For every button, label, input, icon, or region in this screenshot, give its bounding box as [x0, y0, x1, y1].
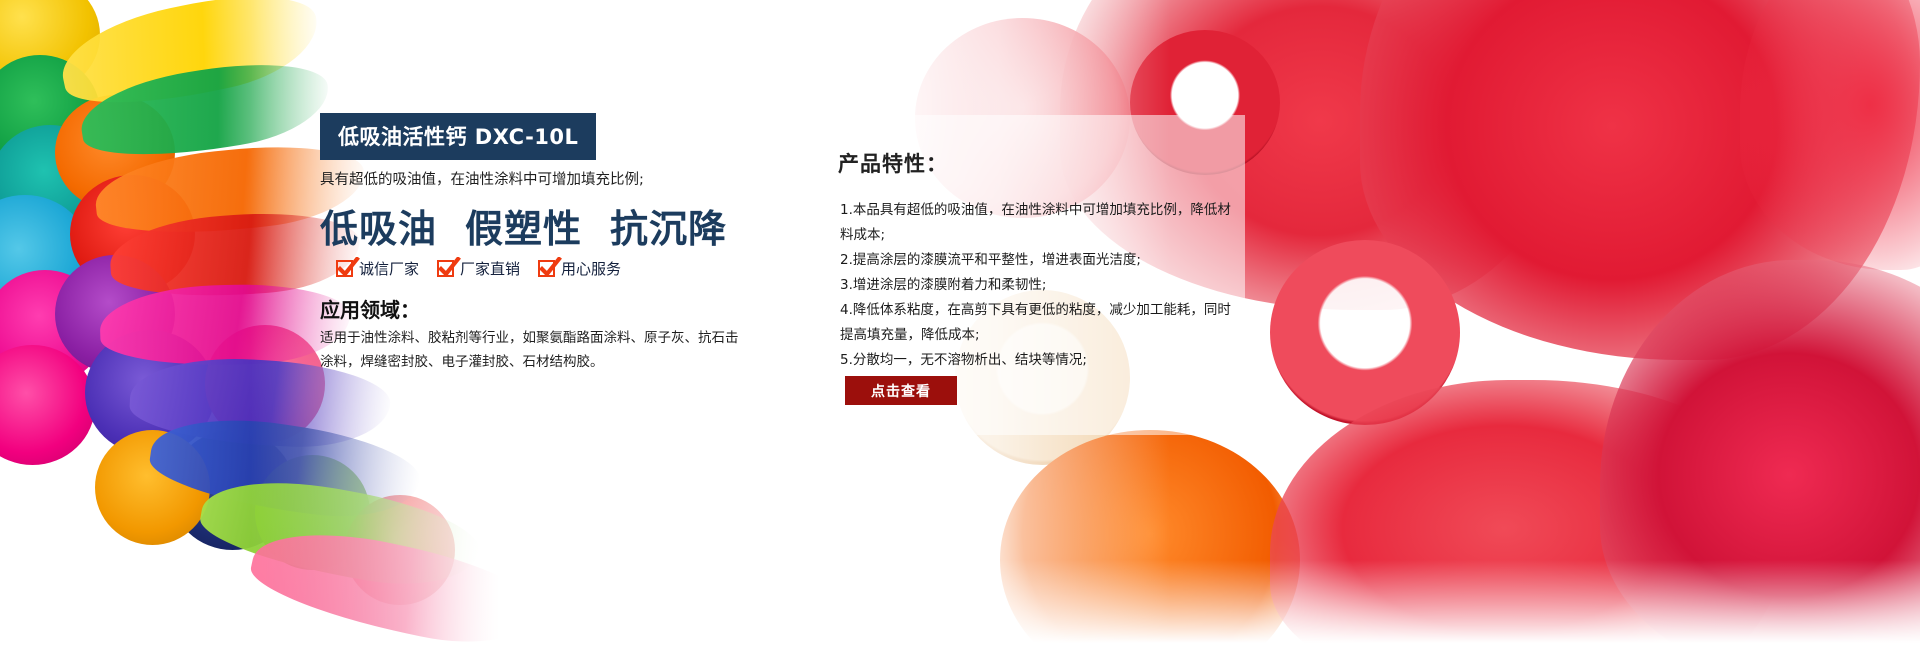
feature-item: 1.本品具有超低的吸油值，在油性涂料中可增加填充比例，降低材料成本;	[840, 198, 1232, 248]
trust-badge-item: 诚信厂家	[336, 258, 419, 279]
trust-badge-item: 用心服务	[538, 258, 621, 279]
feature-item: 5.分散均一，无不溶物析出、结块等情况;	[840, 348, 1232, 373]
left-content-column: 低吸油活性钙 DXC-10L 具有超低的吸油值，在油性涂料中可增加填充比例; 低…	[312, 0, 742, 650]
product-subline: 具有超低的吸油值，在油性涂料中可增加填充比例;	[320, 168, 644, 189]
application-field-title: 应用领域：	[320, 294, 420, 323]
checkbox-check-icon	[437, 260, 454, 277]
headline-keywords: 低吸油假塑性抗沉降	[320, 198, 727, 253]
trust-badge-label: 厂家直销	[460, 258, 520, 279]
product-features-title: 产品特性：	[838, 148, 948, 178]
product-banner: 低吸油活性钙 DXC-10L 具有超低的吸油值，在油性涂料中可增加填充比例; 低…	[0, 0, 1920, 650]
headline-word-1: 低吸油	[320, 206, 437, 251]
product-title-tag: 低吸油活性钙 DXC-10L	[320, 113, 596, 160]
trust-badge-list: 诚信厂家 厂家直销 用心服务	[336, 258, 621, 279]
paint-bottom-fade-mask	[840, 560, 1920, 650]
headline-word-3: 抗沉降	[610, 206, 727, 251]
headline-word-2: 假塑性	[465, 206, 582, 251]
checkbox-check-icon	[538, 260, 555, 277]
application-field-body: 适用于油性涂料、胶粘剂等行业，如聚氨酯路面涂料、原子灰、抗石击涂料，焊缝密封胶、…	[320, 326, 740, 374]
feature-item: 3.增进涂层的漆膜附着力和柔韧性;	[840, 273, 1232, 298]
feature-item: 4.降低体系粘度，在高剪下具有更低的粘度，减少加工能耗，同时提高填充量，降低成本…	[840, 298, 1232, 348]
trust-badge-label: 诚信厂家	[359, 258, 419, 279]
view-details-button[interactable]: 点击查看	[845, 376, 957, 405]
feature-item: 2.提高涂层的漆膜流平和平整性，增进表面光洁度;	[840, 248, 1232, 273]
trust-badge-item: 厂家直销	[437, 258, 520, 279]
trust-badge-label: 用心服务	[561, 258, 621, 279]
checkbox-check-icon	[336, 260, 353, 277]
product-features-list: 1.本品具有超低的吸油值，在油性涂料中可增加填充比例，降低材料成本; 2.提高涂…	[840, 198, 1232, 373]
